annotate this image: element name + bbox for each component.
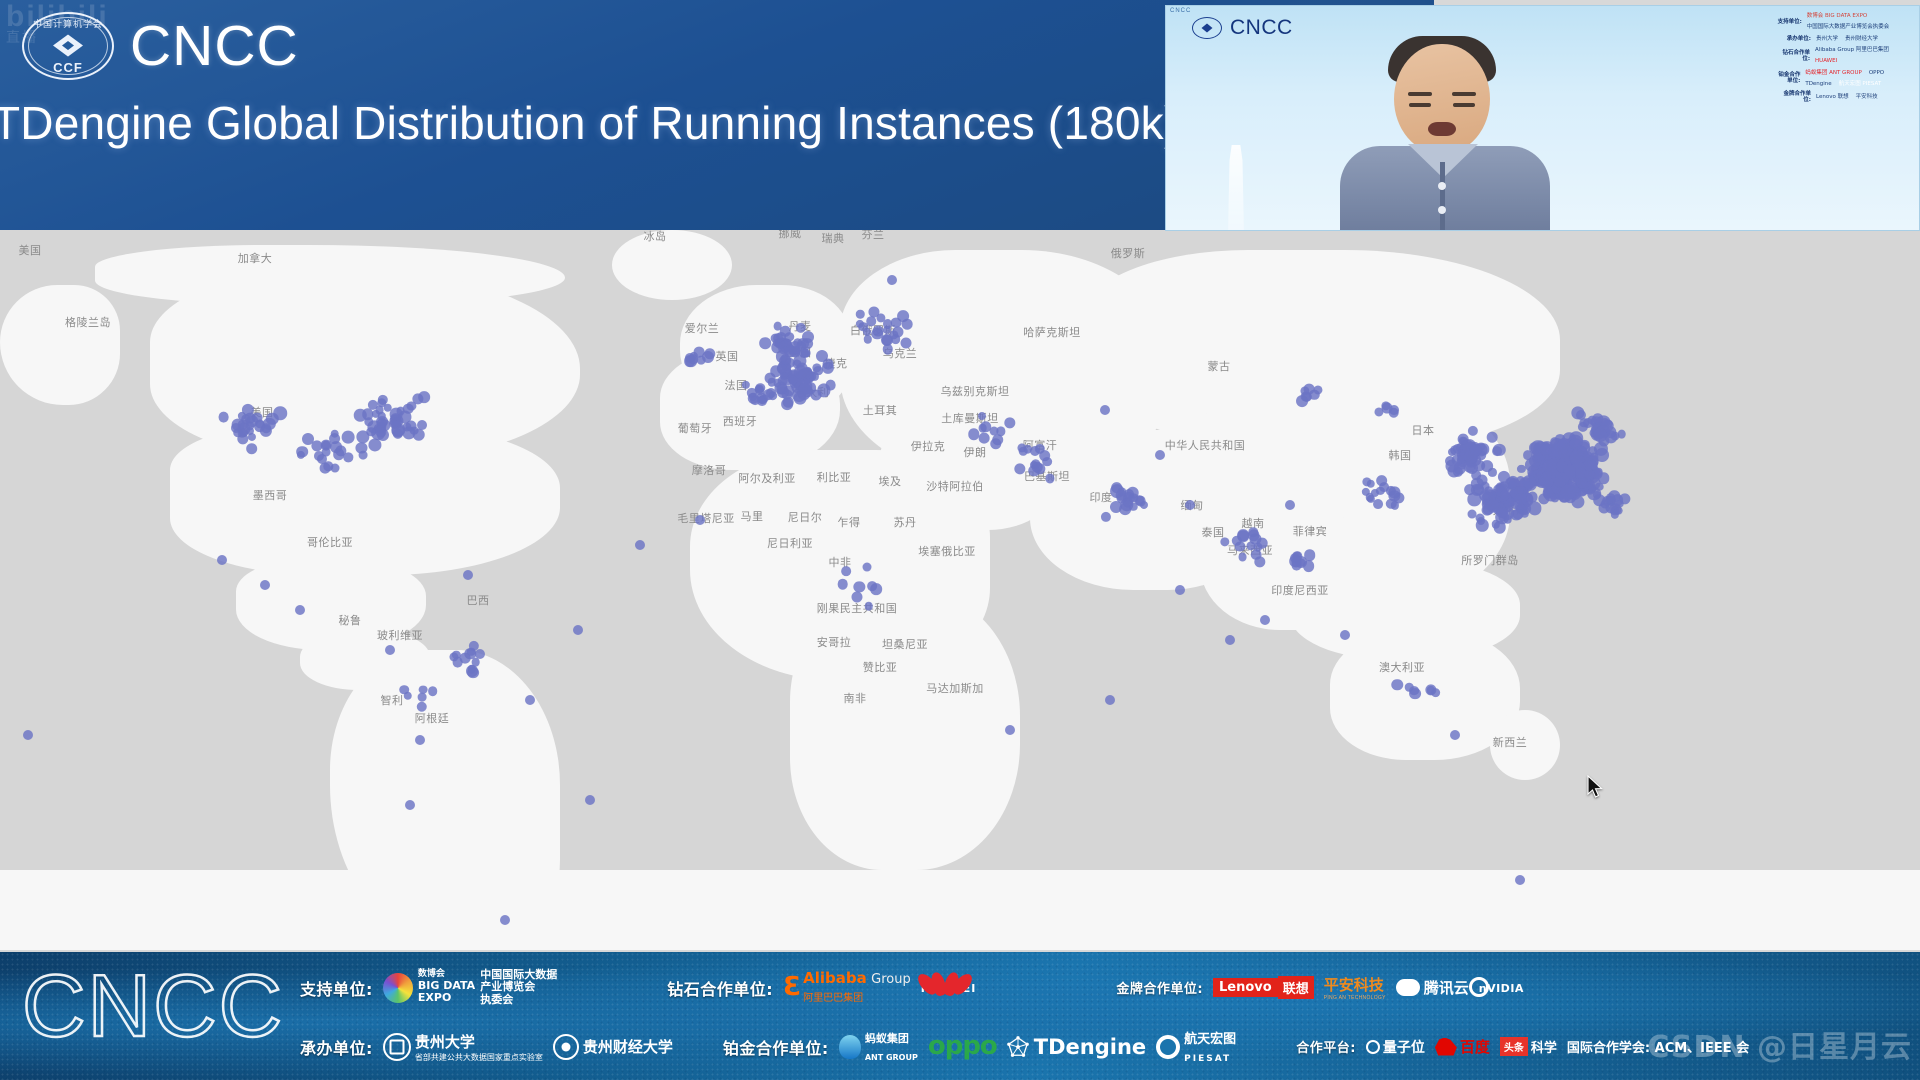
video-sponsor-logo: 贵州财经大学 [1843, 35, 1880, 43]
video-sponsor-logo: OPPO [1867, 69, 1886, 77]
map-instance-dot[interactable] [1524, 478, 1537, 491]
map-instance-dot[interactable] [1617, 430, 1626, 439]
logo-nvidia[interactable]: nVIDIA [1479, 979, 1524, 997]
bigdata-burst-icon [383, 973, 413, 1003]
speaker-brow-left [1408, 92, 1432, 96]
map-instance-dot[interactable] [1527, 491, 1538, 502]
map-instance-dot[interactable] [777, 375, 788, 386]
map-instance-dot[interactable] [863, 563, 872, 572]
video-sponsor-logos: 贵州大学贵州财经大学 [1814, 35, 1880, 43]
banner-row-top: 支持单位: 数博会 BIG DATA EXPO 中国国际大数据 产业博览会 执委… [300, 969, 1916, 1006]
map-instance-dot[interactable] [794, 365, 808, 379]
map-instance-dot[interactable] [1583, 451, 1593, 461]
map-instance-dot[interactable] [891, 334, 901, 344]
ccf-abbr-text: CCF [22, 60, 114, 75]
speaker-button-2 [1438, 206, 1446, 214]
logo-bigdata-expo[interactable]: 数博会 BIG DATA EXPO 中国国际大数据 产业博览会 执委会 [383, 969, 557, 1006]
map-instance-dot[interactable] [1155, 450, 1165, 460]
map-instance-dot[interactable] [1225, 635, 1235, 645]
map-country-label: 美国 [19, 242, 42, 258]
pingan-en: PING AN TECHNOLOGY [1324, 995, 1386, 1001]
map-country-label: 芬兰 [862, 230, 885, 242]
logo-tdengine[interactable]: TDengine [1007, 1035, 1146, 1059]
banner-cat-platinum: 铂金合作单位: [723, 1035, 829, 1059]
map-instance-dot[interactable] [1500, 490, 1510, 500]
speaker-mouth [1428, 122, 1456, 136]
banner-sponsor-grid: 支持单位: 数博会 BIG DATA EXPO 中国国际大数据 产业博览会 执委… [300, 958, 1916, 1076]
map-instance-dot[interactable] [1610, 510, 1618, 518]
video-sponsor-logo: 数博会 BIG DATA EXPO [1805, 12, 1869, 20]
map-instance-dot[interactable] [793, 391, 806, 404]
map-instance-dot[interactable] [1448, 464, 1461, 477]
map-instance-dot[interactable] [992, 434, 1004, 446]
map-instance-dot[interactable] [841, 567, 851, 577]
map-instance-dot[interactable] [1512, 509, 1523, 520]
map-instance-dot[interactable] [870, 583, 882, 595]
video-sponsor-row: 承办单位:贵州大学贵州财经大学 [1777, 35, 1917, 43]
logo-pingan[interactable]: 平安科技 PING AN TECHNOLOGY [1324, 974, 1386, 1001]
map-instance-dot[interactable] [837, 579, 848, 590]
map-instance-dot[interactable] [867, 316, 877, 326]
map-instance-dot[interactable] [585, 795, 595, 805]
map-instance-dot[interactable] [1175, 585, 1185, 595]
ccf-seal-cn-text: 中国计算机学会 [22, 17, 114, 30]
video-sponsor-row: 钻石合作单位:Alibaba Group 阿里巴巴集团HUAWEI [1777, 46, 1917, 66]
map-instance-dot[interactable] [295, 605, 305, 615]
alibaba-en: Alibaba [803, 969, 867, 987]
map-instance-dot[interactable] [1251, 549, 1262, 560]
logo-guizhou-university[interactable]: 贵州大学 省部共建公共大数据国家重点实验室 [383, 1031, 543, 1063]
logo-alibaba[interactable]: ℇ Alibaba Group 阿里巴巴集团 [783, 969, 911, 1006]
map-instance-dot[interactable] [802, 331, 814, 343]
map-instance-dot[interactable] [763, 389, 775, 401]
map-instance-dot[interactable] [467, 665, 476, 674]
ccf-seal-icon: 中国计算机学会 CCF [22, 12, 114, 80]
map-instance-dot[interactable] [218, 412, 229, 423]
speaker-figure [1316, 30, 1616, 230]
piesat-cn: 航天宏图 [1184, 1032, 1236, 1047]
tdengine-star-icon [1007, 1036, 1029, 1058]
map-instance-dot[interactable] [697, 356, 706, 365]
guizhou-finance-cn: 贵州财经大学 [583, 1036, 673, 1057]
map-instance-dot[interactable] [260, 580, 270, 590]
video-sponsor-logo: Alibaba Group 阿里巴巴集团 [1813, 46, 1891, 54]
map-instance-dot[interactable] [1260, 615, 1270, 625]
map-instance-dot[interactable] [897, 310, 909, 322]
map-instance-dot[interactable] [1450, 730, 1460, 740]
video-sponsor-logo: HUAWEI [1813, 57, 1839, 65]
baidu-cn: 百度 [1460, 1036, 1490, 1057]
bigdata-en1: BIG DATA [418, 979, 475, 992]
map-instance-dot[interactable] [418, 693, 427, 702]
map-instance-dot[interactable] [765, 372, 776, 383]
map-instance-dot[interactable] [1593, 495, 1605, 507]
map-instance-dot[interactable] [417, 420, 427, 430]
logo-oppo[interactable]: oppo [928, 1035, 997, 1058]
map-instance-dot[interactable] [385, 645, 395, 655]
sponsor-banner: CNCC 支持单位: 数博会 BIG DATA EXPO 中国国际大数据 产业博… [0, 952, 1920, 1080]
map-instance-dot[interactable] [1594, 468, 1603, 477]
video-sponsor-logos: Alibaba Group 阿里巴巴集团HUAWEI [1813, 46, 1917, 66]
slide-stage: 美国加拿大美国墨西哥冰岛格陵兰岛挪威瑞典芬兰爱尔兰英国丹麦白俄罗斯俄罗斯法国德国… [0, 0, 1920, 1080]
bigdata-cn: 数博会 [418, 969, 445, 979]
map-instance-dot[interactable] [1373, 499, 1383, 509]
video-sponsor-row: 金牌合作单位:Lenovo 联想平安科技 [1777, 91, 1917, 103]
speaker-head [1394, 44, 1490, 154]
international-societies-label: 国际合作学会: ACM、IEEE 会 [1567, 1037, 1749, 1056]
map-instance-dot[interactable] [1551, 442, 1567, 458]
map-instance-dot[interactable] [1570, 438, 1582, 450]
video-cncc-logo: CNCC [1192, 16, 1293, 40]
map-instance-dot[interactable] [419, 685, 428, 694]
map-instance-dot[interactable] [342, 431, 355, 444]
map-instance-dot[interactable] [872, 325, 883, 336]
map-instance-dot[interactable] [852, 591, 863, 602]
map-instance-dot[interactable] [773, 322, 782, 331]
map-instance-dot[interactable] [1458, 436, 1467, 445]
map-instance-dot[interactable] [1120, 503, 1132, 515]
video-sponsor-category: 承办单位: [1777, 36, 1811, 42]
logo-ant-group[interactable]: 蚂蚁集团 ANT GROUP [839, 1029, 918, 1065]
video-top-label: CNCC [1170, 8, 1191, 14]
video-sponsor-logo: 航天宏图 PIESAT [1837, 80, 1883, 88]
video-sponsor-category: 金牌合作单位: [1777, 91, 1811, 103]
map-instance-dot[interactable] [217, 555, 227, 565]
video-sponsor-logo: 蚂蚁集团 ANT GROUP [1803, 69, 1864, 77]
map-instance-dot[interactable] [23, 730, 33, 740]
map-instance-dot[interactable] [467, 648, 476, 657]
lenovo-cn: 联想 [1278, 976, 1314, 999]
toutiao-box: 头条 [1500, 1037, 1528, 1056]
map-landmass [612, 230, 732, 300]
map-instance-dot[interactable] [864, 602, 873, 611]
map-instance-dot[interactable] [1124, 489, 1134, 499]
guizhou-university-lab: 省部共建公共大数据国家重点实验室 [415, 1052, 543, 1063]
map-instance-dot[interactable] [333, 449, 345, 461]
guizhou-finance-seal-icon [553, 1034, 579, 1060]
pingan-cn: 平安科技 [1324, 976, 1384, 994]
alibaba-group: Group [871, 972, 911, 987]
lenovo-en: Lenovo [1213, 978, 1278, 997]
map-instance-dot[interactable] [760, 338, 772, 350]
logo-piesat[interactable]: 航天宏图 PIESAT [1156, 1028, 1236, 1066]
alibaba-mark-icon: ℇ [783, 977, 799, 998]
logo-tencent-cloud[interactable]: 腾讯云 [1396, 977, 1469, 998]
bigdata-cn-l3: 执委会 [480, 993, 513, 1006]
map-instance-dot[interactable] [802, 349, 811, 358]
banner-cat-gold: 金牌合作单位: [1116, 978, 1203, 997]
speaker-eye-right [1453, 103, 1475, 107]
map-country-label: 巴西 [467, 592, 490, 608]
map-instance-dot[interactable] [405, 800, 415, 810]
map-instance-dot[interactable] [1593, 428, 1607, 442]
map-instance-dot[interactable] [1487, 432, 1498, 443]
video-ccf-seal-icon [1192, 17, 1222, 39]
banner-row-bottom: 承办单位: 贵州大学 省部共建公共大数据国家重点实验室 贵州财经大学 铂金合作单… [300, 1028, 1916, 1066]
video-sponsor-logos: Lenovo 联想平安科技 [1814, 93, 1880, 101]
toutiao-cn: 科学 [1531, 1037, 1557, 1056]
speaker-brow-right [1452, 92, 1476, 96]
map-instance-dot[interactable] [1100, 405, 1110, 415]
video-sponsor-logos: 蚂蚁集团 ANT GROUPOPPOTDengine航天宏图 PIESAT [1803, 69, 1917, 89]
video-sponsor-category: 钻石合作单位: [1777, 50, 1810, 62]
banner-cat-support: 支持单位: [300, 976, 373, 1000]
logo-huawei[interactable]: HUAWEI [921, 979, 977, 997]
map-instance-dot[interactable] [1289, 556, 1301, 568]
bigdata-cn-l2: 产业博览会 [480, 980, 535, 993]
map-instance-dot[interactable] [359, 450, 368, 459]
map-instance-dot[interactable] [296, 446, 308, 458]
video-sponsor-category: 铂金合作单位: [1777, 72, 1800, 84]
map-landmass [1490, 710, 1560, 780]
map-instance-dot[interactable] [238, 429, 247, 438]
logo-lenovo[interactable]: Lenovo 联想 [1213, 976, 1314, 999]
map-instance-dot[interactable] [1303, 560, 1315, 572]
video-cncc-wordmark: CNCC [1230, 16, 1293, 40]
video-sponsor-logo: 平安科技 [1854, 93, 1880, 101]
cncc-wordmark: CNCC [130, 18, 299, 75]
map-landmass [0, 285, 120, 405]
map-instance-dot[interactable] [1405, 683, 1414, 692]
map-instance-dot[interactable] [399, 411, 412, 424]
video-sponsor-category: 支持单位: [1777, 19, 1802, 25]
guizhou-university-cn: 贵州大学 [415, 1033, 475, 1051]
video-sponsor-logo: 中国国际大数据产业博览会执委会 [1805, 23, 1892, 31]
map-instance-dot[interactable] [1185, 500, 1195, 510]
map-instance-dot[interactable] [1285, 500, 1295, 510]
map-instance-dot[interactable] [1570, 450, 1583, 463]
video-sponsor-logo: 贵州大学 [1814, 35, 1840, 43]
banner-cncc-wordmark: CNCC [22, 962, 284, 1050]
baidu-paw-icon [1435, 1038, 1457, 1056]
map-instance-dot[interactable] [781, 398, 793, 410]
map-instance-dot[interactable] [978, 433, 989, 444]
map-instance-dot[interactable] [1340, 630, 1350, 640]
map-instance-dot[interactable] [825, 380, 836, 391]
video-tower-graphic [1218, 145, 1254, 230]
map-instance-dot[interactable] [354, 409, 367, 422]
map-instance-dot[interactable] [1493, 521, 1506, 534]
map-instance-dot[interactable] [500, 915, 510, 925]
piesat-en: PIESAT [1184, 1054, 1231, 1064]
map-instance-dot[interactable] [261, 423, 271, 433]
map-instance-dot[interactable] [1619, 494, 1630, 505]
banner-cat-diamond: 钻石合作单位: [667, 976, 773, 1000]
map-instance-dot[interactable] [463, 570, 473, 580]
map-instance-dot[interactable] [573, 625, 583, 635]
bigdata-en2: EXPO [418, 991, 451, 1004]
video-sponsor-logo: TDengine [1803, 80, 1833, 88]
map-instance-dot[interactable] [883, 326, 891, 334]
ant-group-en: ANT GROUP [865, 1053, 918, 1062]
map-instance-dot[interactable] [887, 275, 897, 285]
map-instance-dot[interactable] [900, 337, 911, 348]
map-instance-dot[interactable] [246, 443, 258, 455]
map-instance-dot[interactable] [1481, 505, 1492, 516]
map-instance-dot[interactable] [274, 407, 288, 421]
map-instance-dot[interactable] [415, 735, 425, 745]
map-instance-dot[interactable] [1515, 875, 1525, 885]
map-country-label: 俄罗斯 [1111, 245, 1146, 261]
map-instance-dot[interactable] [1019, 447, 1028, 456]
map-landmass [790, 590, 1020, 870]
map-instance-dot[interactable] [1588, 416, 1597, 425]
banner-cat-organizer: 承办单位: [300, 1035, 373, 1059]
tdengine-text: TDengine [1034, 1035, 1146, 1059]
map-instance-dot[interactable] [1238, 552, 1247, 561]
speaker-button-1 [1438, 182, 1446, 190]
logo-baidu[interactable]: 百度 [1435, 1036, 1490, 1057]
map-instance-dot[interactable] [1105, 695, 1115, 705]
map-instance-dot[interactable] [1498, 507, 1508, 517]
video-sponsor-column: 支持单位:数博会 BIG DATA EXPO中国国际大数据产业博览会执委会承办单… [1777, 12, 1917, 228]
ant-group-icon [839, 1035, 861, 1059]
video-sponsor-logos: 数博会 BIG DATA EXPO中国国际大数据产业博览会执委会 [1805, 12, 1917, 32]
map-instance-dot[interactable] [823, 359, 834, 370]
ant-group-cn: 蚂蚁集团 [865, 1032, 909, 1045]
speaker-video-overlay[interactable]: CNCC CNCC 支持单位:数博会 BIG DATA EXPO中国国际大数据产… [1165, 5, 1920, 231]
world-map[interactable]: 美国加拿大美国墨西哥冰岛格陵兰岛挪威瑞典芬兰爱尔兰英国丹麦白俄罗斯俄罗斯法国德国… [0, 230, 1920, 950]
guizhou-university-seal-icon [383, 1033, 411, 1061]
alibaba-cn: 阿里巴巴集团 [803, 993, 863, 1004]
logo-guizhou-finance-university[interactable]: 贵州财经大学 [553, 1034, 673, 1060]
video-sponsor-logo: Lenovo 联想 [1814, 93, 1851, 101]
map-instance-dot[interactable] [399, 685, 409, 695]
map-instance-dot[interactable] [1030, 446, 1040, 456]
map-instance-dot[interactable] [419, 391, 431, 403]
video-sponsor-row: 支持单位:数博会 BIG DATA EXPO中国国际大数据产业博览会执委会 [1777, 12, 1917, 32]
map-instance-dot[interactable] [1606, 493, 1616, 503]
logo-quantumbit[interactable]: 量子位 [1366, 1037, 1425, 1057]
quantumbit-ring-icon [1366, 1040, 1380, 1054]
speaker-shirt-placket [1440, 162, 1445, 231]
map-instance-dot[interactable] [978, 412, 986, 420]
tencent-cn: 腾讯云 [1424, 977, 1469, 998]
map-landmass [0, 870, 1920, 950]
tencent-cloud-icon [1396, 979, 1420, 996]
map-instance-dot[interactable] [773, 333, 783, 343]
map-country-label: 瑞典 [822, 230, 845, 246]
speaker-eye-left [1409, 103, 1431, 107]
map-instance-dot[interactable] [525, 695, 535, 705]
map-instance-dot[interactable] [635, 540, 645, 550]
quantumbit-cn: 量子位 [1383, 1037, 1425, 1057]
piesat-globe-icon [1156, 1035, 1180, 1059]
cncc-logo: 中国计算机学会 CCF CNCC [22, 12, 299, 80]
logo-toutiao-science[interactable]: 头条 科学 [1500, 1037, 1557, 1056]
banner-cat-platform: 合作平台: [1296, 1037, 1356, 1056]
map-country-label: 挪威 [779, 230, 802, 241]
map-instance-dot[interactable] [428, 686, 438, 696]
video-sponsor-row: 铂金合作单位:蚂蚁集团 ANT GROUPOPPOTDengine航天宏图 PI… [1777, 69, 1917, 89]
map-instance-dot[interactable] [1005, 725, 1015, 735]
map-instance-dot[interactable] [1542, 471, 1552, 481]
map-instance-dot[interactable] [695, 515, 705, 525]
